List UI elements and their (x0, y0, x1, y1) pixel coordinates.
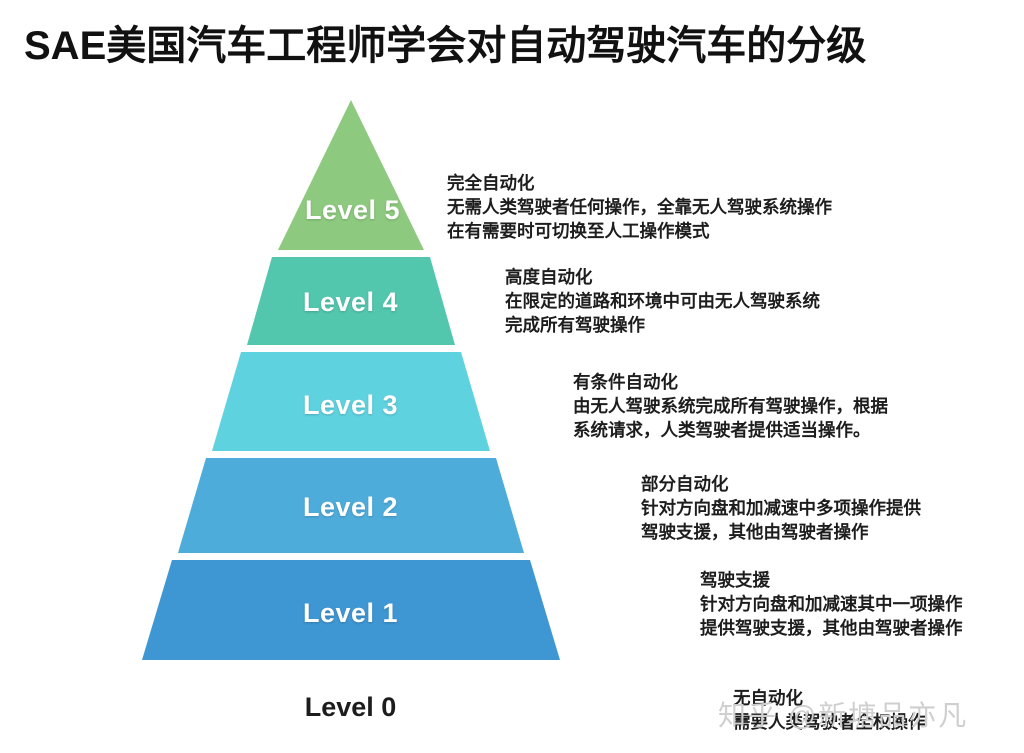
description-line-level-5-2: 在有需要时可切换至人工操作模式 (447, 219, 832, 243)
description-level-1: 驾驶支援 针对方向盘和加减速其中一项操作 提供驾驶支援，其他由驾驶者操作 (700, 568, 963, 640)
pyramid-label-level-0: Level 0 (268, 692, 433, 723)
description-heading-level-0: 无自动化 (733, 686, 926, 710)
description-level-5: 完全自动化 无需人类驾驶者任何操作，全靠无人驾驶系统操作 在有需要时可切换至人工… (447, 171, 832, 243)
description-line-level-4-1: 在限定的道路和环境中可由无人驾驶系统 (505, 289, 820, 313)
description-level-0: 无自动化 需要人类驾驶者全权操作 (733, 686, 926, 734)
description-level-3: 有条件自动化 由无人驾驶系统完成所有驾驶操作，根据 系统请求，人类驾驶者提供适当… (573, 370, 888, 442)
description-line-level-0-1: 需要人类驾驶者全权操作 (733, 710, 926, 734)
description-level-2: 部分自动化 针对方向盘和加减速中多项操作提供 驾驶支援，其他由驾驶者操作 (641, 472, 921, 544)
description-line-level-4-2: 完成所有驾驶操作 (505, 313, 820, 337)
pyramid-label-level-2: Level 2 (268, 492, 433, 523)
description-heading-level-5: 完全自动化 (447, 171, 832, 195)
pyramid-label-level-1: Level 1 (268, 598, 433, 629)
description-line-level-3-2: 系统请求，人类驾驶者提供适当操作。 (573, 418, 888, 442)
infographic-canvas: SAE美国汽车工程师学会对自动驾驶汽车的分级 Level 5 Level 4 L… (0, 0, 1024, 753)
pyramid-label-level-4: Level 4 (268, 287, 433, 318)
description-line-level-1-2: 提供驾驶支援，其他由驾驶者操作 (700, 616, 963, 640)
pyramid-label-level-5: Level 5 (270, 195, 435, 226)
description-line-level-1-1: 针对方向盘和加减速其中一项操作 (700, 592, 963, 616)
description-line-level-2-2: 驾驶支援，其他由驾驶者操作 (641, 520, 921, 544)
pyramid-band-level-5 (278, 100, 424, 250)
description-line-level-5-1: 无需人类驾驶者任何操作，全靠无人驾驶系统操作 (447, 195, 832, 219)
description-line-level-3-1: 由无人驾驶系统完成所有驾驶操作，根据 (573, 394, 888, 418)
description-heading-level-4: 高度自动化 (505, 265, 820, 289)
description-heading-level-1: 驾驶支援 (700, 568, 963, 592)
description-heading-level-3: 有条件自动化 (573, 370, 888, 394)
description-heading-level-2: 部分自动化 (641, 472, 921, 496)
description-line-level-2-1: 针对方向盘和加减速中多项操作提供 (641, 496, 921, 520)
description-level-4: 高度自动化 在限定的道路和环境中可由无人驾驶系统 完成所有驾驶操作 (505, 265, 820, 337)
pyramid-label-level-3: Level 3 (268, 390, 433, 421)
